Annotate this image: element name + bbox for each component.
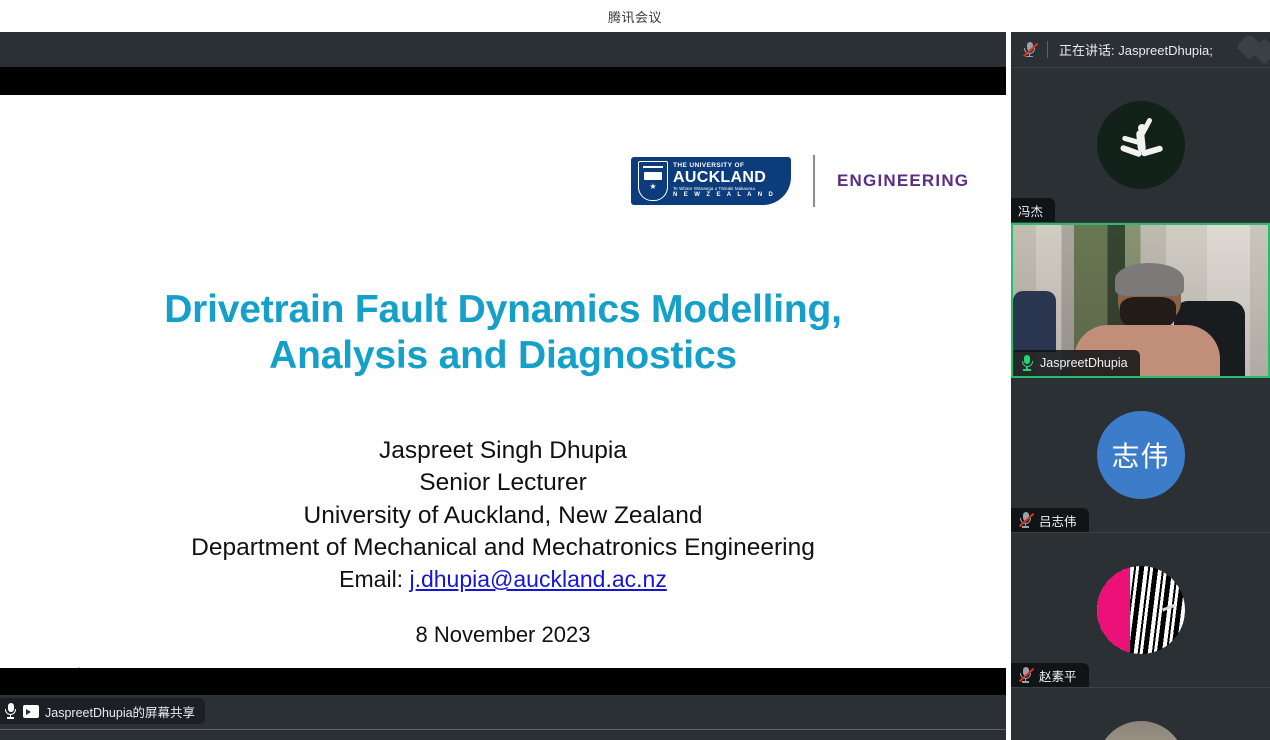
participant-tile-active[interactable]: JaspreetDhupia <box>1011 223 1270 378</box>
shared-screen-letterbox-bottom <box>0 668 1006 695</box>
participant-tile[interactable] <box>1011 688 1270 740</box>
mic-muted-icon <box>1018 512 1033 529</box>
initials-avatar: 志伟 <box>1097 411 1185 499</box>
participant-name-badge: 冯杰 <box>1011 198 1055 222</box>
mic-muted-icon <box>1018 667 1033 684</box>
participants-panel[interactable]: 正在讲话: JaspreetDhupia; 冯杰 <box>1011 32 1270 740</box>
participant-name: 冯杰 <box>1018 201 1043 220</box>
shared-screen-topbar <box>0 32 1006 67</box>
screen-share-label: JaspreetDhupia的屏幕共享 <box>45 702 195 721</box>
slide-byline: Jaspreet Singh Dhupia Senior Lecturer Un… <box>0 435 1006 595</box>
presenter-affiliation: University of Auckland, New Zealand <box>0 500 1006 532</box>
participant-name-badge: JaspreetDhupia <box>1013 350 1140 376</box>
active-speaker-label: 正在讲话: JaspreetDhupia; <box>1059 40 1213 59</box>
logo-line-2: AUCKLAND <box>673 170 775 187</box>
presenter-name: Jaspreet Singh Dhupia <box>0 435 1006 467</box>
photo-avatar <box>1097 721 1185 740</box>
auckland-shield-icon: ★ THE UNIVERSITY OF AUCKLAND Te Whare Wā… <box>631 157 791 205</box>
stripes-avatar <box>1097 566 1185 654</box>
mic-muted-icon[interactable] <box>1022 41 1037 58</box>
decorative-diamonds-icon <box>1238 36 1270 64</box>
logo-line-3: Te Whare Wānanga o Tāmaki Makaurau <box>673 187 775 192</box>
monitor-icon <box>23 705 39 718</box>
participant-name-badge: 赵素平 <box>1011 663 1089 687</box>
slide-title: Drivetrain Fault Dynamics Modelling, Ana… <box>0 287 1006 379</box>
presentation-slide[interactable]: ★ THE UNIVERSITY OF AUCKLAND Te Whare Wā… <box>0 95 1006 668</box>
presenter-role: Senior Lecturer <box>0 467 1006 499</box>
participant-tile[interactable]: 冯杰 <box>1011 68 1270 223</box>
presenter-department: Department of Mechanical and Mechatronic… <box>0 532 1006 564</box>
participant-name: 吕志伟 <box>1039 511 1077 530</box>
jordan-logo-avatar <box>1097 101 1185 189</box>
logo-line-4: N E W Z E A L A N D <box>673 192 775 198</box>
active-speaker-bar: 正在讲话: JaspreetDhupia; <box>1011 32 1270 68</box>
mic-unmuted-icon <box>1020 355 1034 371</box>
crest-icon: ★ <box>638 161 668 201</box>
slide-title-line-2: Analysis and Diagnostics <box>269 334 737 377</box>
participant-tile[interactable]: 志伟 吕志伟 <box>1011 378 1270 533</box>
window-title: 腾讯会议 <box>608 7 662 26</box>
mic-icon <box>4 703 17 719</box>
slide-title-line-1: Drivetrain Fault Dynamics Modelling, <box>164 288 842 331</box>
participant-tile[interactable]: 赵素平 <box>1011 533 1270 688</box>
participant-name: JaspreetDhupia <box>1040 356 1128 370</box>
faculty-label: ENGINEERING <box>837 171 969 191</box>
presenter-email-line: Email: j.dhupia@auckland.ac.nz <box>0 564 1006 594</box>
statusbar-divider <box>0 729 1006 730</box>
university-logo: ★ THE UNIVERSITY OF AUCKLAND Te Whare Wā… <box>631 155 969 207</box>
speaker-bar-divider <box>1047 41 1048 58</box>
email-label: Email: <box>339 566 409 592</box>
participant-name-badge: 吕志伟 <box>1011 508 1089 532</box>
window-titlebar: 腾讯会议 <box>0 0 1270 32</box>
email-link[interactable]: j.dhupia@auckland.ac.nz <box>409 566 666 592</box>
shared-screen-statusbar: JaspreetDhupia的屏幕共享 <box>0 695 1006 740</box>
shared-screen-letterbox-top <box>0 67 1006 95</box>
logo-divider <box>813 155 815 207</box>
shared-screen-region[interactable]: ★ THE UNIVERSITY OF AUCKLAND Te Whare Wā… <box>0 32 1006 740</box>
screen-share-badge: JaspreetDhupia的屏幕共享 <box>0 698 205 724</box>
participant-name: 赵素平 <box>1039 666 1077 685</box>
avatar-initials: 志伟 <box>1111 435 1169 475</box>
slide-date: 8 November 2023 <box>0 622 1006 648</box>
